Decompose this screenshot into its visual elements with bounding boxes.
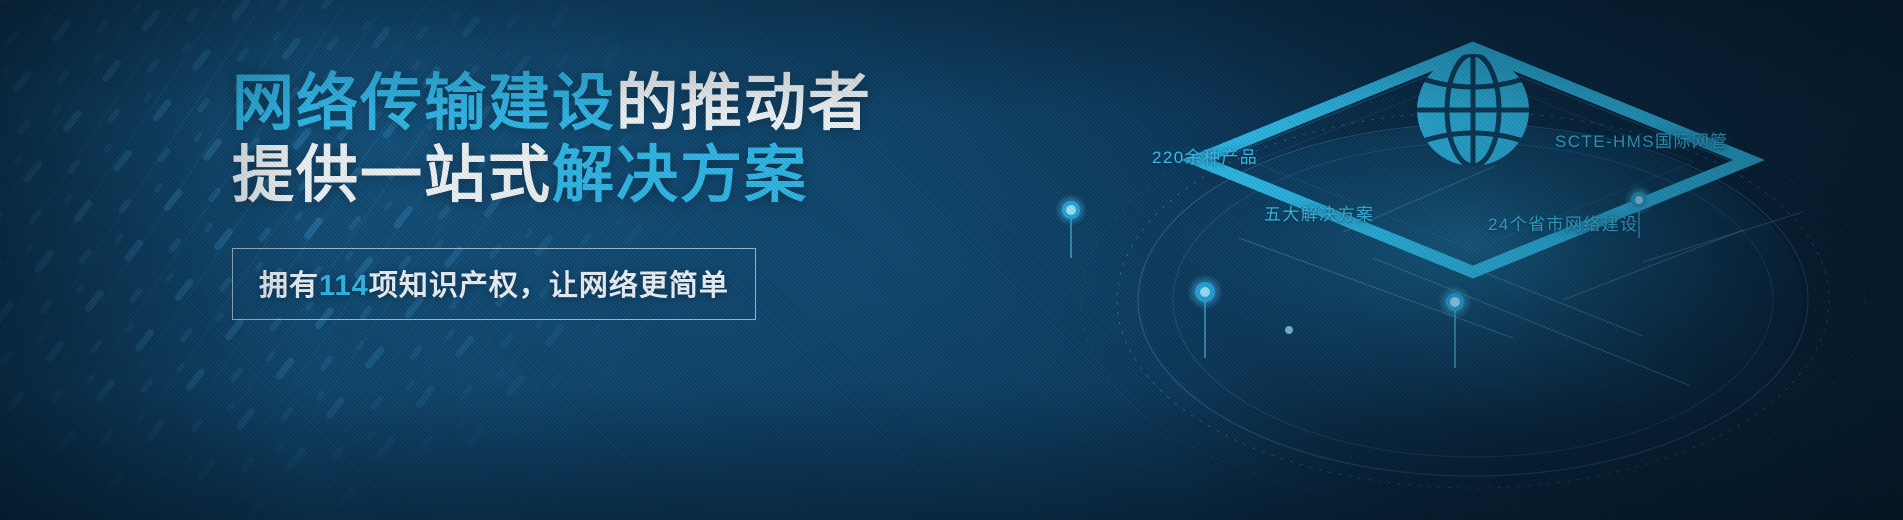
headline-line1-white: 的推动者 — [616, 69, 872, 138]
network-illustration — [1043, 0, 1903, 520]
headline-line2-cyan: 解决方案 — [552, 141, 808, 210]
graphic-label-solutions: 五大解决方案 — [1264, 200, 1374, 225]
hero-banner: 220余种产品 五大解决方案 24个省市网络建设 SCTE-HMS国际网管 网络… — [0, 0, 1903, 520]
graphic-label-scte-hms: SCTE-HMS国际网管 — [1555, 127, 1729, 152]
page-title: 网络传输建设的推动者 提供一站式解决方案 — [232, 68, 952, 212]
hero-copy: 网络传输建设的推动者 提供一站式解决方案 拥有114项知识产权，让网络更简单 — [232, 68, 952, 320]
tagline-suffix: 项知识产权，让网络更简单 — [369, 270, 729, 302]
graphic-label-products: 220余种产品 — [1152, 143, 1258, 168]
headline-line2-white: 提供一站式 — [232, 141, 552, 210]
graphic-label-provinces: 24个省市网络建设 — [1488, 210, 1639, 235]
tagline-prefix: 拥有 — [259, 270, 319, 302]
tagline-box: 拥有114项知识产权，让网络更简单 — [232, 248, 756, 320]
headline-line1-cyan: 网络传输建设 — [232, 69, 616, 138]
tagline-number: 114 — [319, 270, 369, 302]
